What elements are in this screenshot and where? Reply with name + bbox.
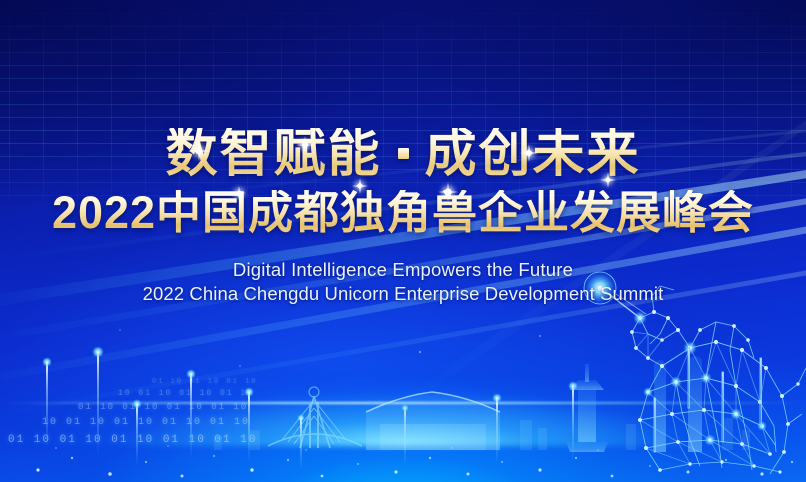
binary-row: 10 01 10 01 10 01 10 <box>118 389 254 398</box>
headline-line-2: 2022中国成都独角兽企业发展峰会 <box>0 190 806 235</box>
subtitle-block: Digital Intelligence Empowers the Future… <box>0 258 806 305</box>
headline-line-1-part-2: 成创未来 <box>425 125 641 183</box>
headline-line-1: 数智赋能成创未来 <box>0 128 806 180</box>
subtitle-line-2: 2022 China Chengdu Unicorn Enterprise De… <box>0 282 806 306</box>
binary-row: 10 01 10 01 10 01 10 01 10 <box>42 417 250 428</box>
binary-row: 01 10 01 10 01 10 <box>152 378 257 386</box>
headline-line-1-part-1: 数智赋能 <box>165 125 381 183</box>
binary-row: 01 10 01 10 01 10 01 10 <box>78 402 248 412</box>
subtitle-line-1: Digital Intelligence Empowers the Future <box>0 258 806 282</box>
event-poster: 01 10 01 10 01 10 01 10 01 10 10 01 10 0… <box>0 0 806 482</box>
binary-row: 01 10 01 10 01 10 01 10 01 10 <box>8 434 257 446</box>
binary-digit-field: 01 10 01 10 01 10 01 10 01 10 10 01 10 0… <box>0 342 420 462</box>
headline-block: 数智赋能成创未来 2022中国成都独角兽企业发展峰会 <box>0 128 806 235</box>
headline-separator-dot <box>398 148 409 159</box>
